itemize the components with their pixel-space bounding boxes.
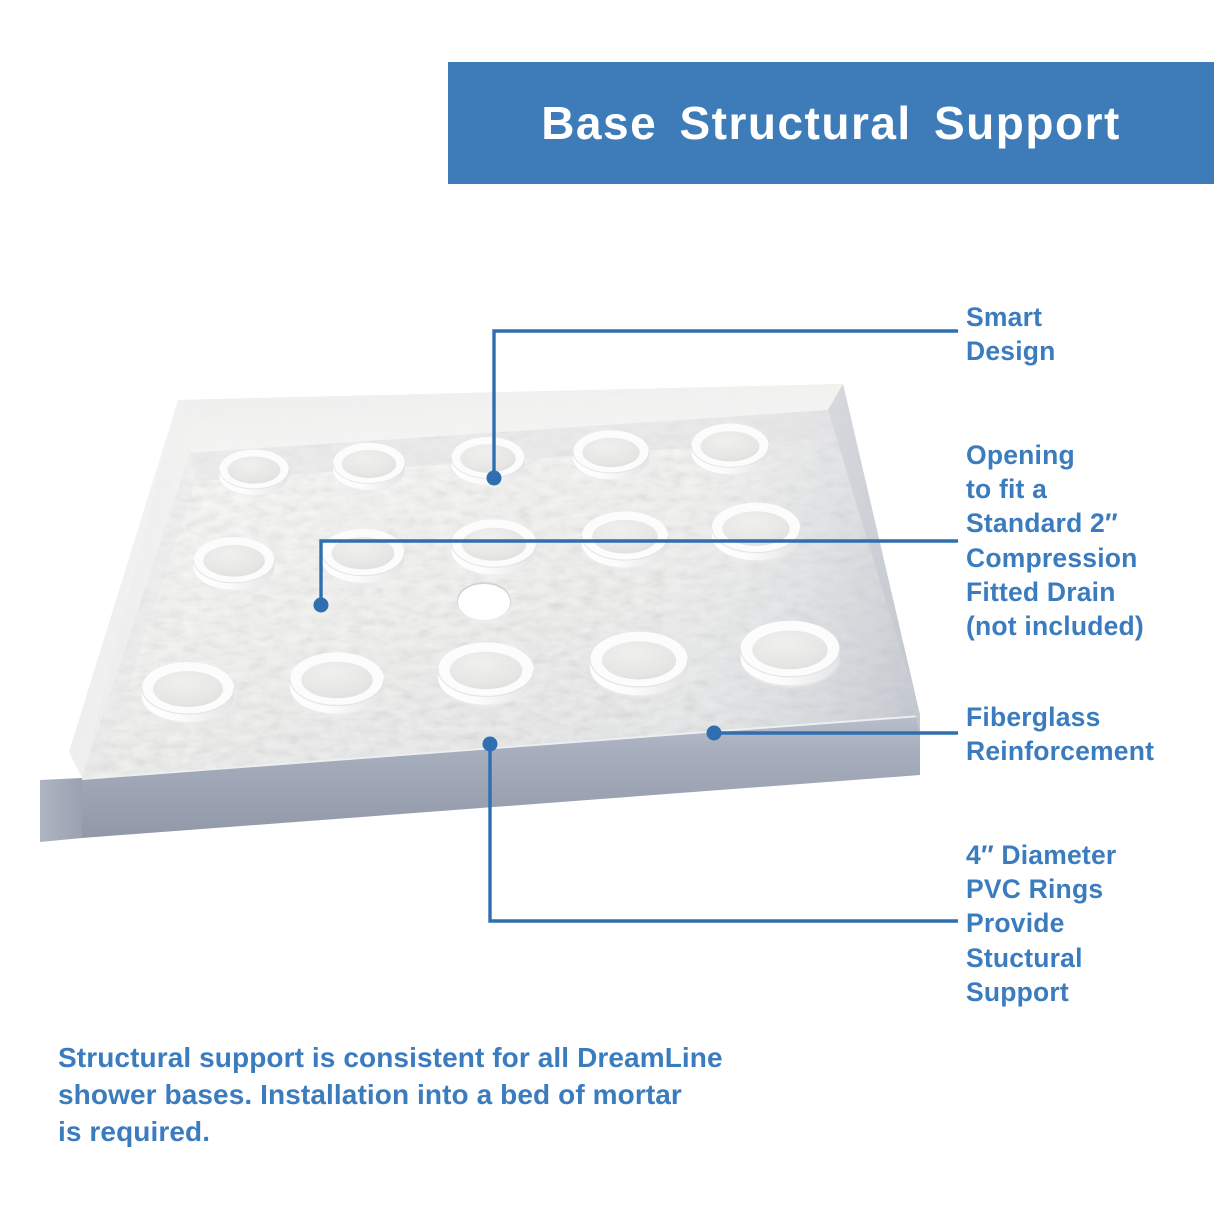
callout-line: Provide bbox=[966, 906, 1116, 940]
pvc-ring bbox=[290, 652, 384, 715]
callout-line: Opening bbox=[966, 438, 1144, 472]
pvc-ring bbox=[219, 450, 289, 497]
pvc-ring bbox=[712, 503, 800, 563]
drain-opening bbox=[457, 582, 511, 620]
product-illustration bbox=[0, 380, 960, 850]
callout-line: Stuctural bbox=[966, 941, 1116, 975]
callout-line: Support bbox=[966, 975, 1116, 1009]
pvc-ring bbox=[194, 537, 275, 592]
callout-pvc-rings: 4″ Diameter PVC Rings Provide Stuctural … bbox=[966, 838, 1116, 1009]
callout-line: Reinforcement bbox=[966, 734, 1154, 768]
callout-line: 4″ Diameter bbox=[966, 838, 1116, 872]
pvc-ring bbox=[573, 430, 648, 481]
page-root: Base Structural Support bbox=[0, 0, 1214, 1214]
callout-line: Smart bbox=[966, 300, 1056, 334]
pvc-ring bbox=[691, 424, 768, 476]
pvc-ring bbox=[333, 443, 405, 491]
pvc-ring bbox=[740, 621, 839, 688]
page-title: Base Structural Support bbox=[541, 100, 1121, 146]
pvc-ring bbox=[451, 437, 524, 486]
footer-line: Structural support is consistent for all… bbox=[58, 1040, 838, 1077]
callout-line: Fitted Drain bbox=[966, 575, 1144, 609]
callout-line: PVC Rings bbox=[966, 872, 1116, 906]
footer-line: is required. bbox=[58, 1114, 838, 1151]
callout-line: Design bbox=[966, 334, 1056, 368]
header-banner: Base Structural Support bbox=[448, 62, 1214, 184]
pvc-ring bbox=[322, 529, 405, 585]
base-left-wall bbox=[40, 778, 82, 842]
callout-line: (not included) bbox=[966, 609, 1144, 643]
callout-line: Fiberglass bbox=[966, 700, 1154, 734]
callout-line: Standard 2″ bbox=[966, 506, 1144, 540]
pvc-ring bbox=[142, 662, 234, 724]
callout-line: to fit a bbox=[966, 472, 1144, 506]
footer-note: Structural support is consistent for all… bbox=[58, 1040, 838, 1151]
pvc-ring bbox=[590, 632, 688, 698]
callout-smart-design: Smart Design bbox=[966, 300, 1056, 368]
pvc-ring bbox=[438, 642, 534, 706]
pvc-ring bbox=[582, 511, 668, 569]
footer-line: shower bases. Installation into a bed of… bbox=[58, 1077, 838, 1114]
callout-line: Compression bbox=[966, 541, 1144, 575]
callout-fiberglass: Fiberglass Reinforcement bbox=[966, 700, 1154, 768]
pvc-ring bbox=[452, 519, 537, 576]
callout-drain-opening: Opening to fit a Standard 2″ Compression… bbox=[966, 438, 1144, 643]
